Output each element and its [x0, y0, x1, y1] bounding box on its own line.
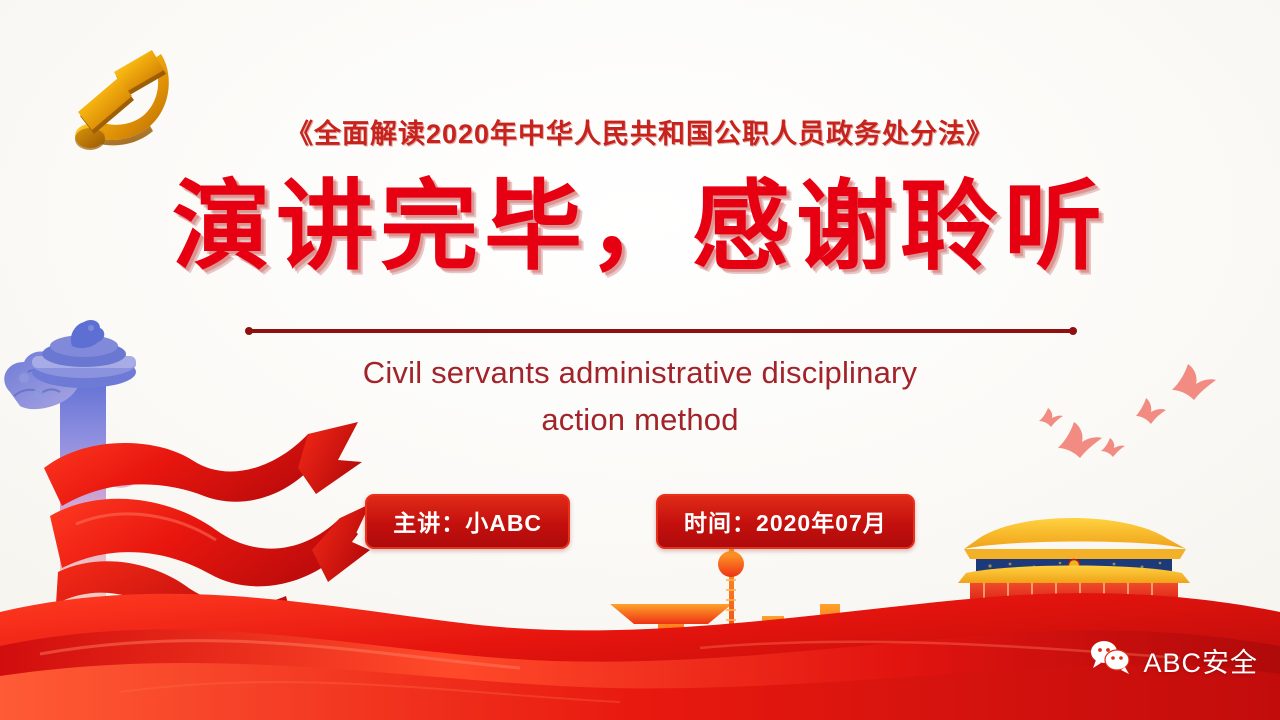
slide-canvas: 中华人民共和国万岁 世界人民大团结万岁: [0, 0, 1280, 720]
watermark: ABC安全: [1088, 639, 1258, 682]
meta-badges: 主讲：小ABC 时间：2020年07月: [0, 494, 1280, 549]
slide-subtitle-en-line1: Civil servants administrative disciplina…: [0, 350, 1280, 397]
page-title: 演讲完毕，感谢聆听: [0, 172, 1280, 282]
wechat-icon: [1088, 639, 1134, 682]
slide-subtitle-en: Civil servants administrative disciplina…: [0, 350, 1280, 443]
watermark-label: ABC安全: [1143, 641, 1258, 680]
slide-subtitle-en-line2: action method: [0, 397, 1280, 444]
title-divider: [243, 322, 1079, 330]
date-badge: 时间：2020年07月: [656, 494, 915, 549]
slide-subtitle-cn: 《全面解读2020年中华人民共和国公职人员政务处分法》: [0, 112, 1280, 151]
presenter-badge: 主讲：小ABC: [365, 494, 570, 549]
red-silk-wave: [0, 550, 1280, 720]
